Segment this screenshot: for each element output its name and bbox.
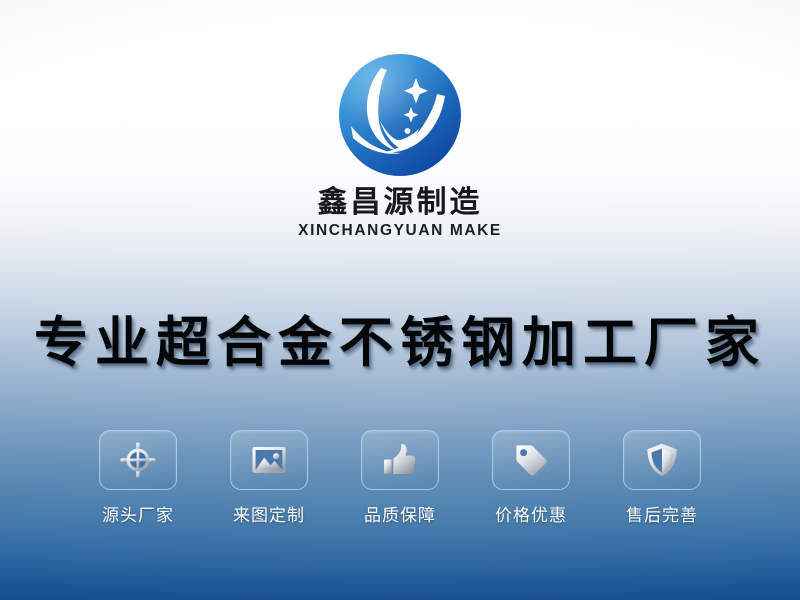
feature-label: 品质保障	[357, 501, 443, 526]
page-title: 专业超合金不锈钢加工厂家	[0, 298, 800, 377]
feature-tile[interactable]	[361, 430, 439, 490]
feature-badge-source-factory[interactable]: 源头厂家	[95, 430, 181, 526]
feature-tile[interactable]	[623, 430, 701, 490]
feature-badge-custom-drawing[interactable]: 来图定制	[226, 430, 312, 526]
sparkle-small-icon	[405, 128, 411, 134]
feature-tile[interactable]	[99, 430, 177, 490]
thumbs-up-icon	[382, 442, 418, 478]
promo-banner: 鑫昌源制造 XINCHANGYUAN MAKE 专业超合金不锈钢加工厂家	[0, 0, 800, 600]
image-picture-icon	[251, 442, 287, 478]
feature-label: 源头厂家	[95, 501, 181, 526]
feature-tile[interactable]	[492, 430, 570, 490]
price-tag-icon	[513, 442, 549, 478]
feature-badge-quality[interactable]: 品质保障	[357, 430, 443, 526]
swallow-bird-circle-logo	[337, 52, 463, 178]
feature-tile[interactable]	[230, 430, 308, 490]
feature-badge-price[interactable]: 价格优惠	[488, 430, 574, 526]
company-name-cn: 鑫昌源制造	[0, 186, 800, 220]
logo-block: 鑫昌源制造 XINCHANGYUAN MAKE	[0, 52, 800, 240]
crosshair-target-icon	[120, 442, 156, 478]
company-name-en: XINCHANGYUAN MAKE	[0, 222, 800, 240]
feature-badge-row: 源头厂家 来图定制	[0, 430, 800, 526]
feature-badge-after-sales[interactable]: 售后完善	[619, 430, 705, 526]
feature-label: 售后完善	[619, 501, 705, 526]
feature-label: 来图定制	[226, 501, 312, 526]
feature-label: 价格优惠	[488, 501, 574, 526]
shield-icon	[644, 442, 680, 478]
